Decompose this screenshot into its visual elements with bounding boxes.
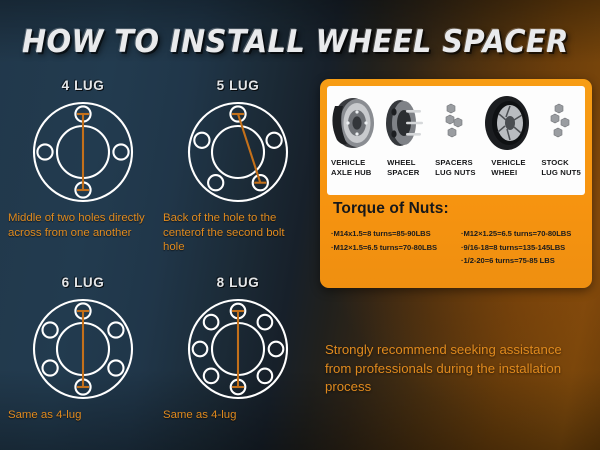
page-title: HOW TO INSTALL WHEEL SPACER (22, 24, 569, 60)
product-photo-card: VEHICLE AXLE HUB WHEEL SPACER SPACERS LU… (327, 86, 585, 195)
wheel-hub-8-lug-icon (179, 295, 297, 403)
label-line-2: WHEEI (491, 168, 517, 177)
label-line-1: VEHICLE (491, 158, 525, 167)
lug-title-4: 4 LUG (8, 78, 158, 93)
infographic-canvas: HOW TO INSTALL WHEEL SPACER 4 LUG Middle… (0, 0, 600, 450)
torque-spec-line: ·M12×1.5=6.5 turns=70-80LBS (331, 241, 457, 255)
torque-spec-line: ·M14x1.5=8 turns=85-90LBS (331, 227, 457, 241)
torque-spec-line: ·9/16-18=8 turns=135-145LBS (461, 241, 587, 255)
product-photo-row (327, 90, 585, 156)
lug-title-5: 5 LUG (163, 78, 313, 93)
stock-lug-nuts-icon (543, 98, 577, 148)
product-torque-panel: VEHICLE AXLE HUB WHEEL SPACER SPACERS LU… (320, 79, 592, 288)
lug-caption-6: Same as 4-lug (8, 408, 158, 423)
lug-title-6: 6 LUG (8, 275, 158, 290)
torque-spec-line: ·M12×1.25=6.5 turns=70-80LBS (461, 227, 587, 241)
product-photo-spacer-lug-nuts (429, 90, 479, 156)
lug-caption-8: Same as 4-lug (163, 408, 313, 423)
label-line-1: SPACERS (435, 158, 473, 167)
product-photo-vehicle-wheel (479, 90, 535, 156)
label-line-2: LUG NUTS (435, 168, 476, 177)
lug-caption-4: Middle of two holes directly across from… (8, 211, 158, 240)
vehicle-axle-hub-icon (327, 96, 379, 150)
label-line-2: SPACER (387, 168, 419, 177)
label-line-2: LUG NUT5 (541, 168, 581, 177)
product-label-vehicle-axle-hub: VEHICLE AXLE HUB (331, 158, 372, 177)
product-photo-wheel-spacer (379, 90, 429, 156)
lug-title-8: 8 LUG (163, 275, 313, 290)
lug-diagram-8: 8 LUG Same as 4-lug (163, 275, 313, 405)
product-photo-stock-lug-nuts (535, 90, 585, 156)
torque-spec-line: ·1/2-20=6 turns=75-85 LBS (461, 254, 587, 268)
wheel-hub-6-lug-icon (24, 295, 142, 403)
product-label-wheel-spacer: WHEEL SPACER (387, 158, 419, 177)
lug-diagram-6: 6 LUG Same as 4-lug (8, 275, 158, 405)
product-label-vehicle-wheel: VEHICLE WHEEI (491, 158, 525, 177)
lug-caption-5: Back of the hole to the centerof the sec… (163, 211, 305, 255)
label-line-1: VEHICLE (331, 158, 365, 167)
wheel-hub-4-lug-icon (24, 98, 142, 206)
torque-column-right: ·M12×1.25=6.5 turns=70-80LBS ·9/16-18=8 … (461, 227, 587, 268)
torque-column-left: ·M14x1.5=8 turns=85-90LBS ·M12×1.5=6.5 t… (331, 227, 457, 268)
label-line-1: WHEEL (387, 158, 416, 167)
product-photo-axle-hub (327, 90, 379, 156)
product-label-row: VEHICLE AXLE HUB WHEEL SPACER SPACERS LU… (331, 158, 581, 177)
vehicle-wheel-icon (479, 95, 535, 151)
product-label-spacers-lug-nuts: SPACERS LUG NUTS (435, 158, 476, 177)
wheel-hub-5-lug-icon (179, 98, 297, 206)
lug-diagram-4: 4 LUG Middle of two holes directly acros… (8, 78, 158, 208)
label-line-2: AXLE HUB (331, 168, 372, 177)
professional-assistance-note: Strongly recommend seeking assistance fr… (325, 341, 587, 397)
product-label-stock-lug-nuts: STOCK LUG NUT5 (541, 158, 581, 177)
wheel-spacer-icon (382, 98, 426, 148)
spacer-lug-nuts-icon (437, 98, 471, 148)
torque-heading: Torque of Nuts: (333, 200, 449, 218)
lug-diagram-5: 5 LUG Back of the hole to the centerof t… (163, 78, 313, 208)
label-line-1: STOCK (541, 158, 569, 167)
torque-spec-list: ·M14x1.5=8 turns=85-90LBS ·M12×1.5=6.5 t… (331, 227, 587, 268)
